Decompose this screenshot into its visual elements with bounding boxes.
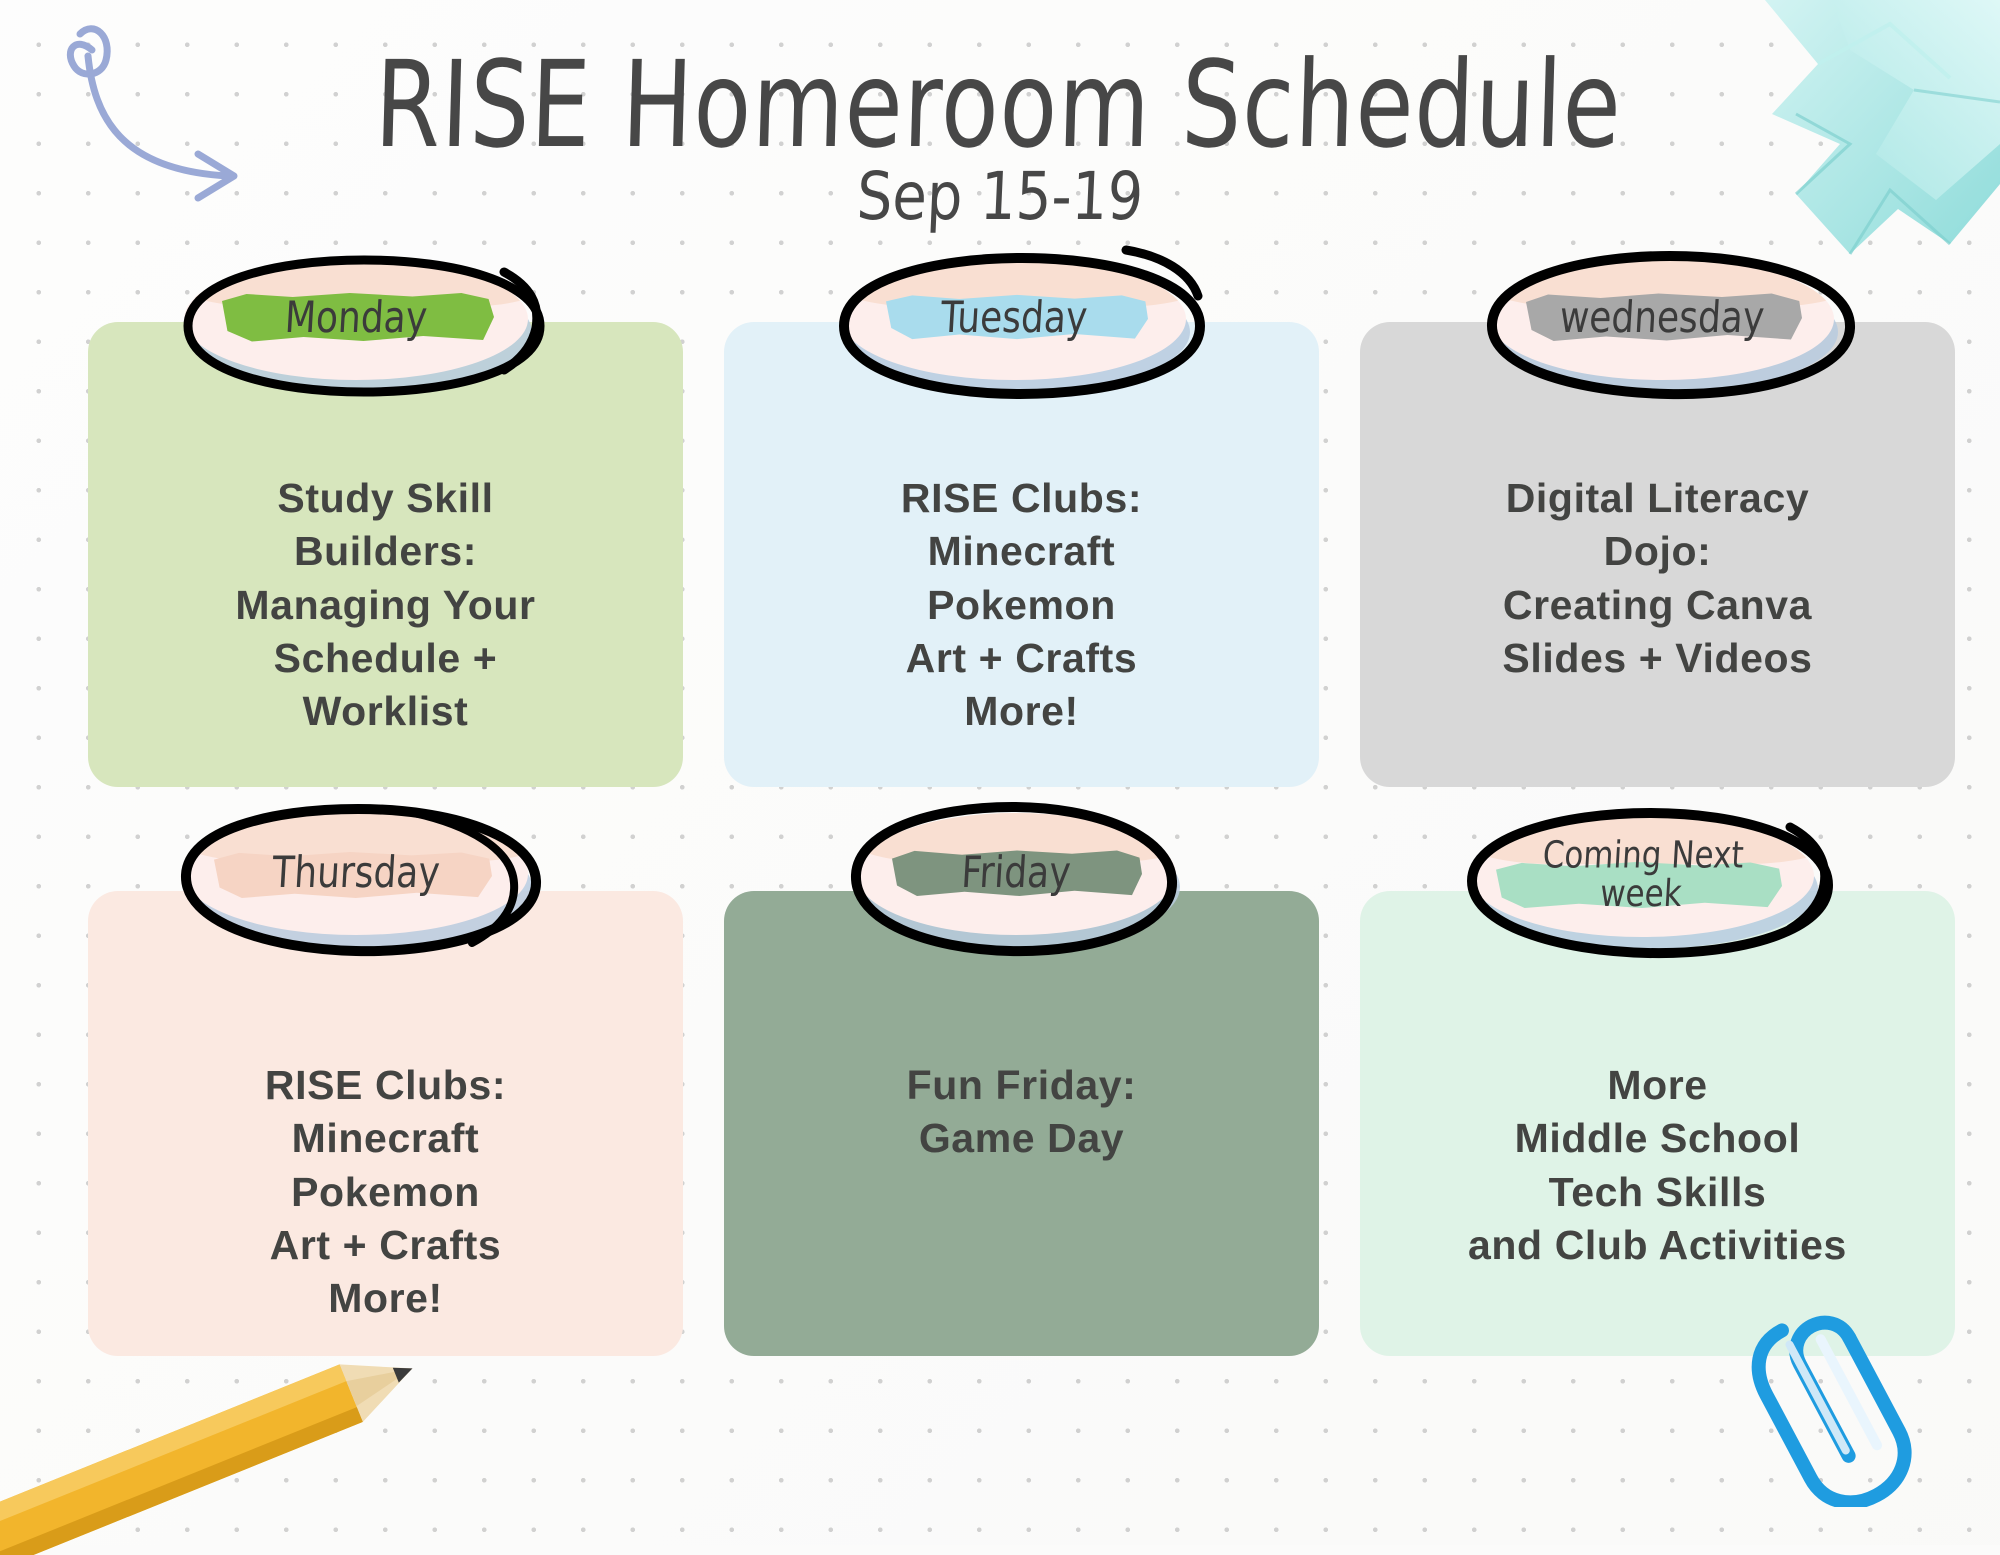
page-subtitle-date-range: Sep 15-19 <box>0 165 2000 231</box>
card-body-thursday: RISE Clubs: Minecraft Pokemon Art + Craf… <box>265 1059 506 1325</box>
blue-paperclip-icon <box>1750 1277 1970 1507</box>
card-body-monday: Study Skill Builders: Managing Your Sche… <box>235 472 535 738</box>
day-label-friday: Friday <box>852 801 1181 947</box>
day-badge-tuesday[interactable]: Tuesday <box>842 258 1194 390</box>
card-body-wednesday: Digital Literacy Dojo: Creating Canva Sl… <box>1502 472 1812 685</box>
day-badge-coming-next-week[interactable]: Coming Next week <box>1470 815 1822 947</box>
day-badge-monday[interactable]: Monday <box>184 258 536 390</box>
card-body-tuesday: RISE Clubs: Minecraft Pokemon Art + Craf… <box>901 472 1142 738</box>
schedule-card-monday[interactable]: Monday Study Skill Builders: Managing Yo… <box>88 322 683 787</box>
day-label-monday: Monday <box>180 246 533 392</box>
day-label-tuesday: Tuesday <box>838 246 1191 392</box>
card-body-coming-next-week: More Middle School Tech Skills and Club … <box>1468 1059 1847 1272</box>
card-body-friday: Fun Friday: Game Day <box>907 1059 1137 1166</box>
day-badge-thursday[interactable]: Thursday <box>184 813 536 945</box>
day-label-coming-next-week: Coming Next week <box>1466 803 1819 949</box>
schedule-card-friday[interactable]: Friday Fun Friday: Game Day <box>724 891 1319 1356</box>
schedule-grid: Monday Study Skill Builders: Managing Yo… <box>88 322 1968 1356</box>
day-badge-friday[interactable]: Friday <box>856 813 1186 945</box>
page-title: RISE Homeroom Schedule <box>37 46 1960 166</box>
schedule-card-wednesday[interactable]: wednesday Digital Literacy Dojo: Creatin… <box>1360 322 1955 787</box>
schedule-card-tuesday[interactable]: Tuesday RISE Clubs: Minecraft Pokemon Ar… <box>724 322 1319 787</box>
yellow-pencil-icon <box>0 1325 480 1555</box>
schedule-card-thursday[interactable]: Thursday RISE Clubs: Minecraft Pokemon A… <box>88 891 683 1356</box>
page-header: RISE Homeroom Schedule Sep 15-19 <box>0 46 2000 226</box>
day-label-thursday: Thursday <box>180 801 533 947</box>
